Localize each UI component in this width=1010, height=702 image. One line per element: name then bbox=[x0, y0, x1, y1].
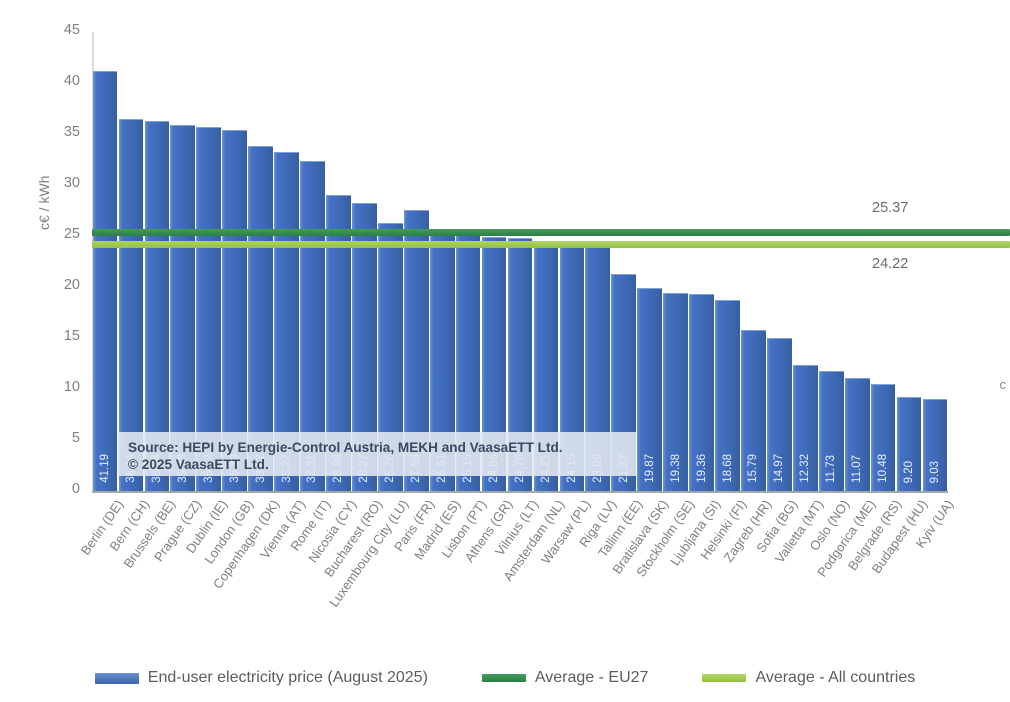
bar-item[interactable]: 24.86 bbox=[482, 32, 507, 491]
y-tick-label: 20 bbox=[40, 277, 80, 293]
bar-value-label: 41.19 bbox=[99, 454, 111, 483]
bar-value-label: 18.68 bbox=[722, 454, 734, 483]
bar-value-label: 19.36 bbox=[696, 454, 708, 483]
legend-item[interactable]: End-user electricity price (August 2025) bbox=[95, 669, 428, 687]
bar-item[interactable]: 14.97 bbox=[767, 32, 792, 491]
bar-value-label: 9.03 bbox=[929, 461, 941, 483]
source-note: Source: HEPI by Energie-Control Austria,… bbox=[118, 432, 636, 476]
bar-rect: 19.87 bbox=[637, 288, 662, 491]
chart-legend: End-user electricity price (August 2025)… bbox=[0, 663, 1010, 693]
bar-item[interactable]: 28.27 bbox=[352, 32, 377, 491]
bar-item[interactable]: 11.73 bbox=[819, 32, 844, 491]
y-tick-label: 0 bbox=[40, 481, 80, 497]
bar-item[interactable]: 36.24 bbox=[145, 32, 170, 491]
bar-value-label: 15.79 bbox=[747, 454, 759, 483]
legend-label: End-user electricity price (August 2025) bbox=[148, 669, 428, 687]
bar-rect: 15.79 bbox=[741, 330, 766, 491]
bar-item[interactable]: 35.72 bbox=[196, 32, 221, 491]
y-tick-label: 45 bbox=[40, 22, 80, 38]
bar-item[interactable]: 21.27 bbox=[611, 32, 636, 491]
bar-rect: 18.68 bbox=[715, 300, 740, 491]
bar-value-label: 9.20 bbox=[903, 461, 915, 483]
y-tick-label: 10 bbox=[40, 379, 80, 395]
bar-value-label: 11.07 bbox=[851, 455, 863, 483]
bar-item[interactable]: 36.44 bbox=[119, 32, 144, 491]
bar-rect: 12.32 bbox=[793, 365, 818, 491]
legend-item[interactable]: Average - All countries bbox=[702, 669, 915, 687]
bar-rect: 14.97 bbox=[767, 338, 792, 491]
bar-item[interactable]: 24.15 bbox=[560, 32, 585, 491]
source-line-2: © 2025 VaasaETT Ltd. bbox=[128, 456, 626, 473]
bar-item[interactable]: 33.82 bbox=[248, 32, 273, 491]
bar-item[interactable]: 41.19 bbox=[93, 32, 118, 491]
bar-value-label: 11.73 bbox=[825, 455, 837, 483]
bar-item[interactable]: 18.68 bbox=[715, 32, 740, 491]
bar-rect: 11.73 bbox=[819, 371, 844, 491]
bar-rect: 9.03 bbox=[923, 399, 948, 491]
bar-item[interactable]: 12.32 bbox=[793, 32, 818, 491]
bar-item[interactable]: 27.58 bbox=[404, 32, 429, 491]
bar-item[interactable]: 24.21 bbox=[534, 32, 559, 491]
bar-value-label: 10.48 bbox=[877, 454, 889, 483]
bar-item[interactable]: 19.87 bbox=[637, 32, 662, 491]
y-tick-label: 15 bbox=[40, 328, 80, 344]
bar-rect: 11.07 bbox=[845, 378, 870, 491]
bar-item[interactable]: 19.38 bbox=[663, 32, 688, 491]
y-tick-label: 30 bbox=[40, 175, 80, 191]
bar-item[interactable]: 25.15 bbox=[456, 32, 481, 491]
legend-swatch bbox=[95, 673, 139, 684]
source-line-1: Source: HEPI by Energie-Control Austria,… bbox=[128, 439, 626, 456]
legend-item[interactable]: Average - EU27 bbox=[482, 669, 649, 687]
legend-swatch bbox=[702, 674, 746, 682]
plot-area: 41.1936.4436.2435.8835.7235.3933.8233.27… bbox=[92, 32, 948, 491]
bar-rect: 9.20 bbox=[897, 397, 922, 491]
legend-label: Average - All countries bbox=[755, 669, 915, 687]
bar-item[interactable]: 15.79 bbox=[741, 32, 766, 491]
legend-label: Average - EU27 bbox=[535, 669, 649, 687]
bar-value-label: 19.87 bbox=[644, 454, 656, 483]
bar-item[interactable]: 35.39 bbox=[222, 32, 247, 491]
bar-item[interactable]: 25.61 bbox=[430, 32, 455, 491]
average-line-all bbox=[92, 241, 1010, 248]
bar-item[interactable]: 24.76 bbox=[508, 32, 533, 491]
bar-item[interactable]: 11.07 bbox=[845, 32, 870, 491]
y-tick-label: 25 bbox=[40, 226, 80, 242]
average-label-eu27: 25.37 bbox=[872, 200, 908, 216]
bar-item[interactable]: 33.27 bbox=[274, 32, 299, 491]
bar-item[interactable]: 19.36 bbox=[689, 32, 714, 491]
bar-item[interactable]: 23.99 bbox=[585, 32, 610, 491]
bar-rect: 19.36 bbox=[689, 294, 714, 491]
bar-item[interactable]: 9.03 bbox=[923, 32, 948, 491]
bar-rect: 19.38 bbox=[663, 293, 688, 491]
legend-swatch bbox=[482, 674, 526, 682]
bar-item[interactable]: 28.98 bbox=[326, 32, 351, 491]
bar-value-label: 14.97 bbox=[773, 454, 785, 483]
bar-value-label: 19.38 bbox=[670, 454, 682, 483]
y-tick-label: 5 bbox=[40, 430, 80, 446]
y-tick-label: 40 bbox=[40, 73, 80, 89]
bar-item[interactable]: 26.26 bbox=[378, 32, 403, 491]
average-label-all: 24.22 bbox=[872, 256, 908, 272]
bar-rect: 10.48 bbox=[871, 384, 896, 491]
chart-container: c€ / kWh 051015202530354045 41.1936.4436… bbox=[0, 0, 1010, 702]
x-axis-line bbox=[92, 491, 948, 493]
edge-marker: c bbox=[1000, 377, 1007, 392]
y-tick-label: 35 bbox=[40, 124, 80, 140]
bar-item[interactable]: 35.88 bbox=[170, 32, 195, 491]
bar-value-label: 12.32 bbox=[799, 454, 811, 483]
average-line-eu27 bbox=[92, 229, 1010, 236]
bar-series: 41.1936.4436.2435.8835.7235.3933.8233.27… bbox=[92, 32, 948, 491]
bar-item[interactable]: 32.31 bbox=[300, 32, 325, 491]
bar-rect: 41.19 bbox=[93, 71, 118, 491]
